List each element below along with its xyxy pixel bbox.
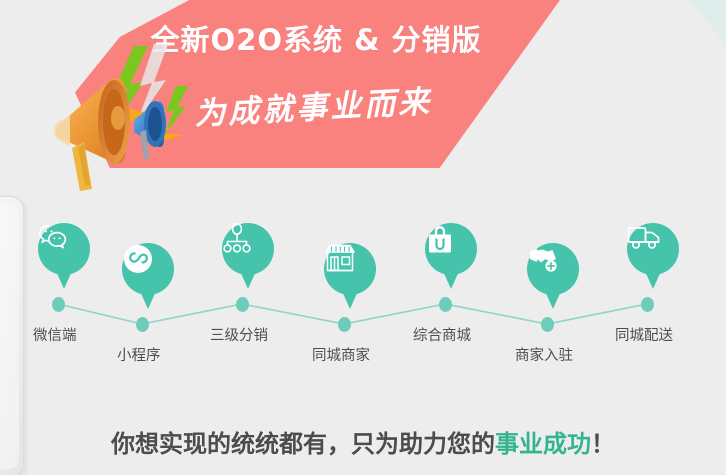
megaphone-group <box>48 28 198 193</box>
feature-pin-4[interactable] <box>324 243 376 309</box>
megaphone-blue-icon <box>134 101 166 160</box>
pin-label-3: 三级分销 <box>210 324 268 345</box>
feature-pin-2[interactable] <box>122 243 174 309</box>
feature-pin-7[interactable] <box>627 223 679 289</box>
feature-pin-3[interactable] <box>222 223 274 289</box>
feature-pin-chain: 微信端 小程序 三级分销 同城商家 综合商城 <box>0 205 726 380</box>
feature-pin-5[interactable] <box>425 223 477 289</box>
tagline: 你想实现的统统都有，只为助力您的事业成功！ <box>0 424 726 459</box>
tagline-part2: ！ <box>591 430 615 458</box>
miniprogram-icon <box>122 243 174 295</box>
megaphone-illustration <box>48 28 198 193</box>
hierarchy-icon <box>222 223 274 275</box>
tagline-part1: 你想实现的统统都有，只为助力您的 <box>111 430 495 458</box>
pin-label-6: 商家入驻 <box>515 344 573 365</box>
promo-banner-page: 全新O2O系统 & 分销版 为成就事业而来 <box>0 0 726 475</box>
chain-node-4 <box>338 317 351 332</box>
chain-node-6 <box>541 317 554 332</box>
pin-label-1: 微信端 <box>33 324 77 345</box>
pin-label-2: 小程序 <box>117 344 161 365</box>
tagline-highlight: 事业成功 <box>495 430 591 458</box>
pin-label-4: 同城商家 <box>312 344 370 365</box>
chain-node-7 <box>641 297 654 312</box>
teal-diagonal-stripe <box>666 0 726 70</box>
storefront-icon <box>324 243 376 295</box>
delivery-truck-icon <box>627 223 679 275</box>
chain-node-1 <box>52 297 65 312</box>
handshake-icon <box>527 243 579 295</box>
pin-label-5: 综合商城 <box>413 324 471 345</box>
chain-node-2 <box>136 317 149 332</box>
wechat-icon <box>38 223 90 275</box>
pin-label-7: 同城配送 <box>615 324 673 345</box>
megaphone-orange-icon <box>54 78 130 191</box>
feature-pin-6[interactable] <box>527 243 579 309</box>
shopping-bag-icon <box>425 223 477 275</box>
chain-node-3 <box>236 297 249 312</box>
chain-node-5 <box>439 297 452 312</box>
feature-pin-1[interactable] <box>38 223 90 289</box>
